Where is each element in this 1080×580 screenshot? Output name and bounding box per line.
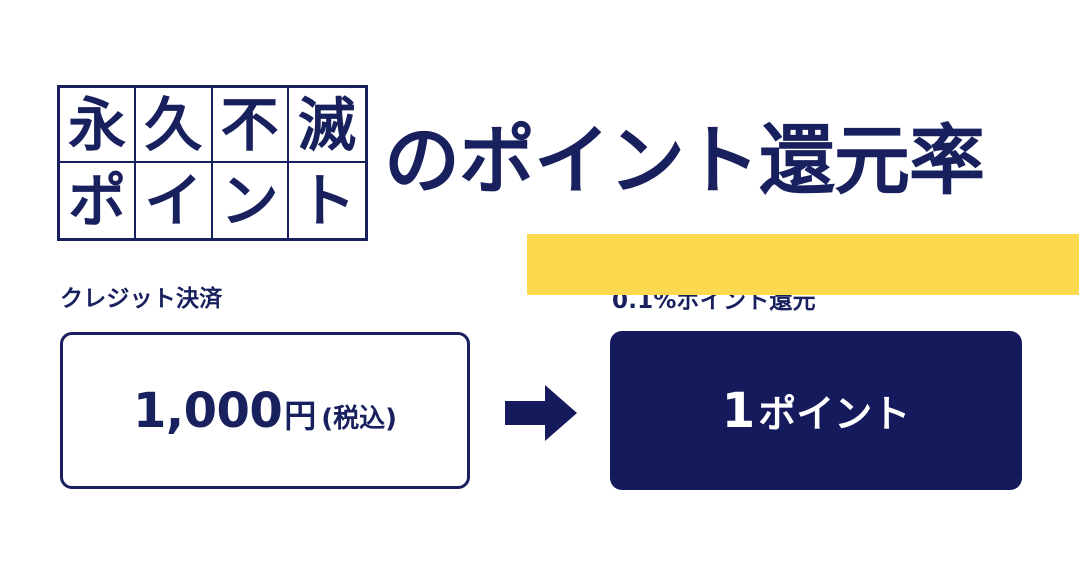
points-earned-box: 1 ポイント [610, 331, 1022, 490]
title-row: 永 久 不 滅 ポ イ ン ト のポイント還元率 [57, 76, 1037, 246]
credit-payment-label: クレジット決済 [60, 288, 222, 311]
conversion-comparison: クレジット決済 1,000 円 (税込) 0.1%ポイント還元 1 ポイント [0, 270, 1080, 510]
credit-payment-amount-box: 1,000 円 (税込) [60, 332, 470, 489]
logo-grid-cell: イ [136, 163, 212, 238]
page-title-text: のポイント還元率 [384, 123, 984, 199]
arrow-right-icon [505, 385, 577, 441]
amount-tax-note: (税込) [321, 398, 397, 435]
logo-grid-cell: 永 [60, 88, 136, 163]
points-unit: ポイント [758, 383, 910, 438]
logo-grid-cell: ポ [60, 163, 136, 238]
points-earned-amount: 1 ポイント [722, 383, 910, 439]
page-title: のポイント還元率 [384, 76, 984, 246]
logo-grid-cell: 滅 [289, 88, 365, 163]
logo-grid-cell: ン [213, 163, 289, 238]
logo-grid-cell: ト [289, 163, 365, 238]
title-highlight-band [527, 234, 1079, 295]
eikyufumetsu-point-logo-grid: 永 久 不 滅 ポ イ ン ト [57, 85, 368, 241]
amount-number: 1,000 [133, 383, 282, 439]
amount-currency-unit: 円 [284, 391, 316, 437]
pointback-rate-infographic: 永 久 不 滅 ポ イ ン ト のポイント還元率 クレジット決済 1,000 円… [0, 0, 1080, 580]
credit-payment-amount: 1,000 円 (税込) [133, 383, 397, 439]
logo-grid-cell: 不 [213, 88, 289, 163]
points-number: 1 [722, 383, 755, 439]
logo-grid-cell: 久 [136, 88, 212, 163]
